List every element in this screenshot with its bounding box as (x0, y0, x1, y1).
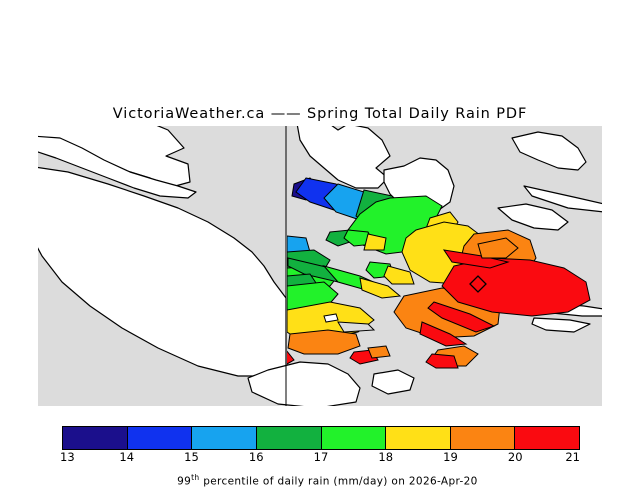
map-plot-area[interactable] (38, 126, 602, 406)
colorbar-caption: 99th percentile of daily rain (mm/day) o… (0, 461, 640, 500)
colorbar-segment-17-18[interactable] (322, 427, 387, 449)
caption-rest: percentile of daily rain (mm/day) on 202… (200, 476, 478, 488)
caption-superscript: th (191, 473, 199, 482)
region-19-20-sw (288, 330, 360, 354)
colorbar-segment-16-17[interactable] (257, 427, 322, 449)
page-title: VictoriaWeather.ca —— Spring Total Daily… (0, 106, 640, 122)
colorbar-segment-13-14[interactable] (63, 427, 128, 449)
colorbar-segment-18-19[interactable] (386, 427, 451, 449)
land-northeast-island-b (498, 204, 568, 230)
colorbar-segment-14-15[interactable] (128, 427, 193, 449)
colorbar-segment-15-16[interactable] (192, 427, 257, 449)
map-canvas (38, 126, 602, 406)
rain-data-overlay (266, 178, 590, 368)
colorbar[interactable] (62, 426, 580, 450)
colorbar-segment-19-20[interactable] (451, 427, 516, 449)
colorbar-segments[interactable] (62, 426, 580, 450)
land-northeast-island-a (512, 132, 586, 170)
land-central-west (38, 166, 286, 376)
region-20-21-islet-d (426, 354, 458, 368)
land-far-east-spit-b (532, 318, 590, 332)
weather-map-page: VictoriaWeather.ca —— Spring Total Daily… (0, 0, 640, 480)
lake-hole-sw (324, 314, 338, 322)
colorbar-segment-20-21[interactable] (515, 427, 579, 449)
caption-prefix: 99 (177, 476, 191, 488)
region-19-20-islet-c (368, 346, 390, 358)
land-south-island (372, 370, 414, 394)
